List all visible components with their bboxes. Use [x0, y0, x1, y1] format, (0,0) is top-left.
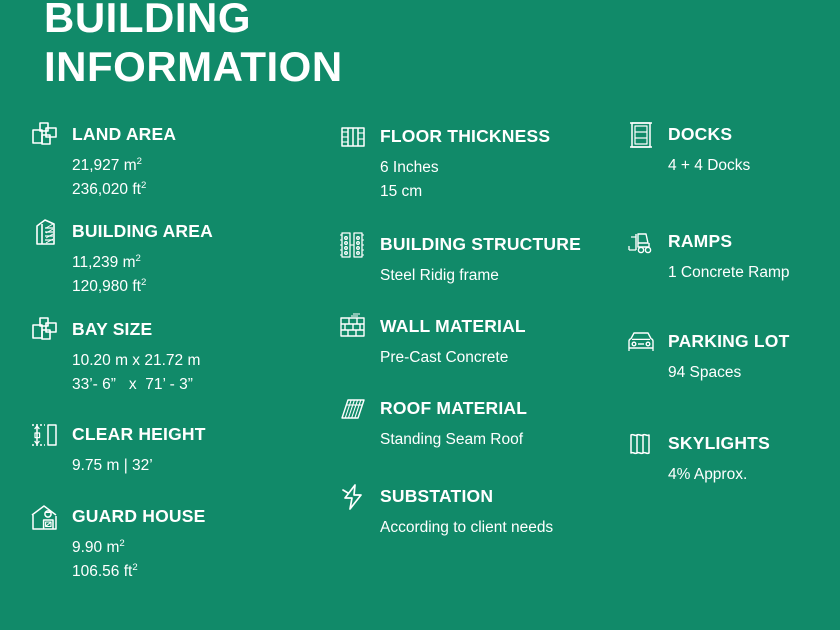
spec-item-header: PARKING LOT	[624, 325, 789, 359]
vertical-dimension-icon	[28, 418, 62, 452]
spec-value-1: 11,239 m2	[72, 251, 213, 275]
spec-item-header: BUILDING STRUCTURE	[336, 228, 581, 262]
spec-label: FLOOR THICKNESS	[380, 127, 550, 146]
spec-label: BAY SIZE	[72, 320, 152, 339]
spec-values: Pre-Cast Concrete	[380, 346, 526, 370]
spec-label: SKYLIGHTS	[668, 434, 770, 453]
spec-label: CLEAR HEIGHT	[72, 425, 206, 444]
spec-label: BUILDING AREA	[72, 222, 213, 241]
spec-item-header: WALL MATERIAL	[336, 310, 526, 344]
dock-door-icon	[624, 118, 658, 152]
spec-value-1: 6 Inches	[380, 156, 550, 180]
spec-item-floor-thickness: FLOOR THICKNESS 6 Inches 15 cm	[336, 120, 550, 204]
spec-values: According to client needs	[380, 516, 553, 540]
forklift-icon	[624, 225, 658, 259]
brick-wall-icon	[336, 310, 370, 344]
lightning-bolt-icon	[336, 480, 370, 514]
spec-label: ROOF MATERIAL	[380, 399, 527, 418]
spec-item-header: DOCKS	[624, 118, 750, 152]
spec-value-1: Standing Seam Roof	[380, 428, 527, 452]
spec-item-land-area: LAND AREA 21,927 m2 236,020 ft2	[28, 118, 176, 202]
roof-panel-icon	[336, 392, 370, 426]
office-building-icon	[28, 215, 62, 249]
spec-item-header: LAND AREA	[28, 118, 176, 152]
spec-item-header: SKYLIGHTS	[624, 427, 770, 461]
spec-item-building-structure: BUILDING STRUCTURE Steel Ridig frame	[336, 228, 581, 288]
spec-item-skylights: SKYLIGHTS 4% Approx.	[624, 427, 770, 487]
spec-label: LAND AREA	[72, 125, 176, 144]
spec-value-1: 4% Approx.	[668, 463, 770, 487]
spec-value-1: 94 Spaces	[668, 361, 789, 385]
spec-label: SUBSTATION	[380, 487, 493, 506]
spec-item-guard-house: GUARD HOUSE 9.90 m2 106.56 ft2	[28, 500, 205, 584]
spec-values: 4% Approx.	[668, 463, 770, 487]
building-information-poster: BUILDING INFORMATION LAND AREA 21,927 m2…	[0, 0, 840, 630]
spec-value-1: Pre-Cast Concrete	[380, 346, 526, 370]
spec-value-1: 1 Concrete Ramp	[668, 261, 789, 285]
spec-item-roof-material: ROOF MATERIAL Standing Seam Roof	[336, 392, 527, 452]
car-front-icon	[624, 325, 658, 359]
spec-item-parking-lot: PARKING LOT 94 Spaces	[624, 325, 789, 385]
spec-item-header: BAY SIZE	[28, 313, 200, 347]
spec-item-header: FLOOR THICKNESS	[336, 120, 550, 154]
spec-values: Steel Ridig frame	[380, 264, 581, 288]
spec-item-header: RAMPS	[624, 225, 789, 259]
steel-frame-icon	[336, 228, 370, 262]
spec-item-clear-height: CLEAR HEIGHT 9.75 m | 32’	[28, 418, 206, 478]
guard-house-icon	[28, 500, 62, 534]
spec-value-1: Steel Ridig frame	[380, 264, 581, 288]
spec-values: 94 Spaces	[668, 361, 789, 385]
spec-value-1: According to client needs	[380, 516, 553, 540]
spec-item-ramps: RAMPS 1 Concrete Ramp	[624, 225, 789, 285]
spec-values: 11,239 m2 120,980 ft2	[72, 251, 213, 299]
spec-value-1: 9.90 m2	[72, 536, 205, 560]
spec-item-docks: DOCKS 4 + 4 Docks	[624, 118, 750, 178]
spec-item-header: SUBSTATION	[336, 480, 553, 514]
page-title-line-1: BUILDING	[44, 0, 564, 43]
spec-values: 9.75 m | 32’	[72, 454, 206, 478]
spec-value-2: 236,020 ft2	[72, 178, 176, 202]
spec-label: DOCKS	[668, 125, 732, 144]
spec-item-building-area: BUILDING AREA 11,239 m2 120,980 ft2	[28, 215, 213, 299]
spec-item-substation: SUBSTATION According to client needs	[336, 480, 553, 540]
spec-label: GUARD HOUSE	[72, 507, 205, 526]
spec-item-header: GUARD HOUSE	[28, 500, 205, 534]
spec-value-2: 106.56 ft2	[72, 560, 205, 584]
spec-values: 6 Inches 15 cm	[380, 156, 550, 204]
spec-value-2: 120,980 ft2	[72, 275, 213, 299]
page-title: BUILDING INFORMATION	[44, 0, 564, 91]
spec-value-1: 9.75 m | 32’	[72, 454, 206, 478]
spec-item-header: BUILDING AREA	[28, 215, 213, 249]
land-plot-icon	[28, 118, 62, 152]
spec-value-1: 10.20 m x 21.72 m	[72, 349, 200, 373]
spec-values: 10.20 m x 21.72 m 33’- 6” x 71’ - 3”	[72, 349, 200, 397]
spec-values: 1 Concrete Ramp	[668, 261, 789, 285]
spec-values: Standing Seam Roof	[380, 428, 527, 452]
spec-item-header: ROOF MATERIAL	[336, 392, 527, 426]
spec-label: RAMPS	[668, 232, 732, 251]
spec-value-1: 4 + 4 Docks	[668, 154, 750, 178]
bay-grid-icon	[28, 313, 62, 347]
spec-item-bay-size: BAY SIZE 10.20 m x 21.72 m 33’- 6” x 71’…	[28, 313, 200, 397]
spec-values: 4 + 4 Docks	[668, 154, 750, 178]
spec-label: WALL MATERIAL	[380, 317, 526, 336]
spec-value-2: 15 cm	[380, 180, 550, 204]
skylight-panel-icon	[624, 427, 658, 461]
spec-label: PARKING LOT	[668, 332, 789, 351]
spec-item-wall-material: WALL MATERIAL Pre-Cast Concrete	[336, 310, 526, 370]
spec-item-header: CLEAR HEIGHT	[28, 418, 206, 452]
page-title-line-2: INFORMATION	[44, 43, 564, 92]
spec-value-2: 33’- 6” x 71’ - 3”	[72, 373, 200, 397]
floor-slab-icon	[336, 120, 370, 154]
spec-values: 21,927 m2 236,020 ft2	[72, 154, 176, 202]
spec-label: BUILDING STRUCTURE	[380, 235, 581, 254]
spec-value-1: 21,927 m2	[72, 154, 176, 178]
spec-values: 9.90 m2 106.56 ft2	[72, 536, 205, 584]
